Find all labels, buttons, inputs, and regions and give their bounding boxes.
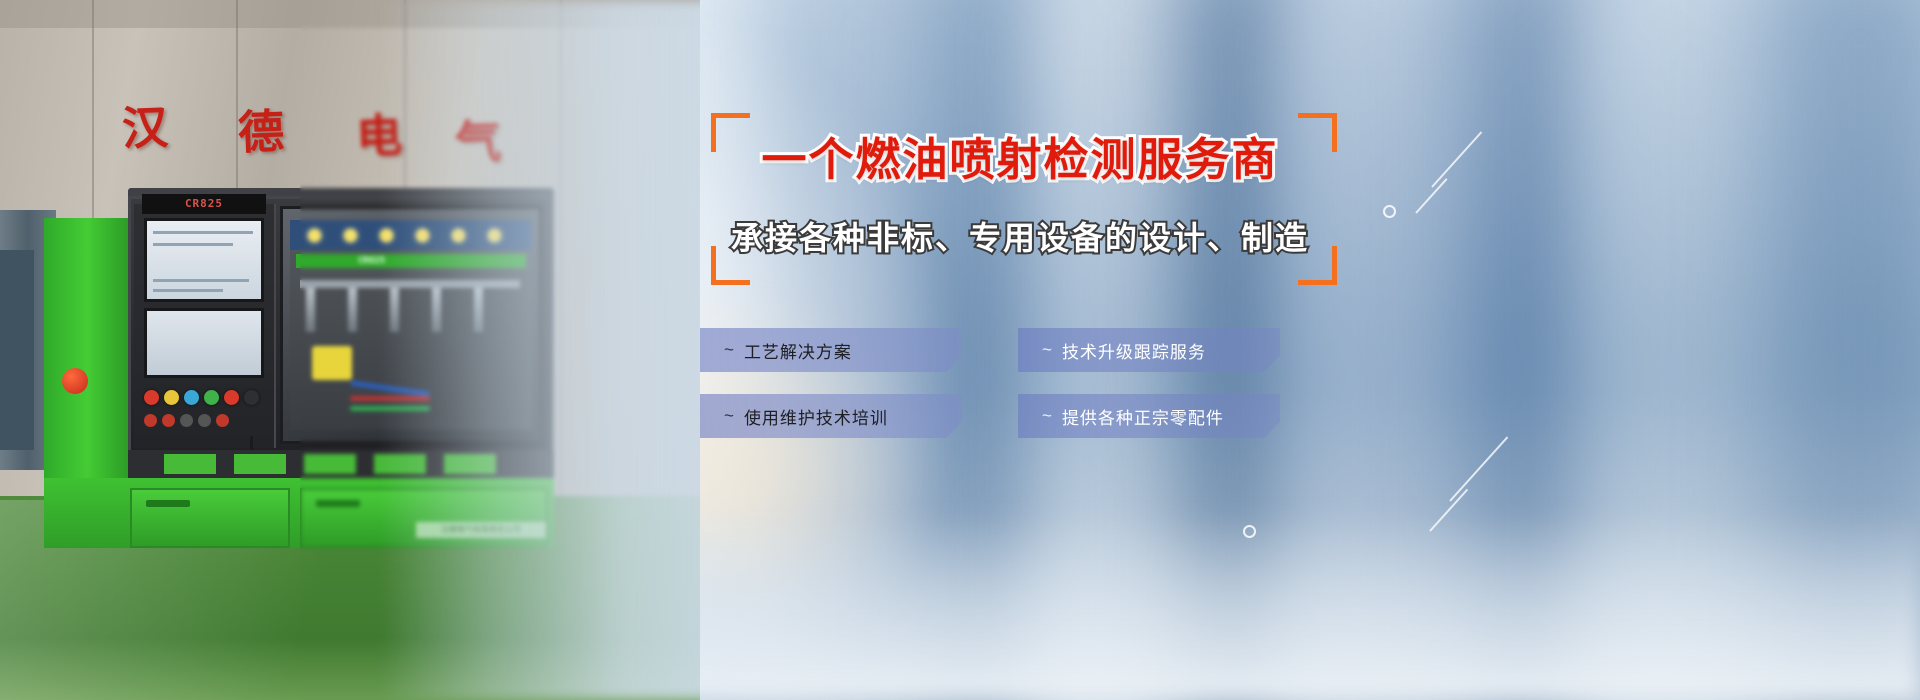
hero-banner: 汉 德 电 气 CR825: [0, 0, 1920, 700]
machine-model-label: CR825: [142, 194, 266, 214]
tag-tilde-2: ~: [724, 406, 735, 426]
left-equipment-dark: [0, 250, 34, 450]
photo-fade-mask: [380, 0, 700, 700]
page-title: 一个燃油喷射检测服务商: [700, 137, 1340, 182]
decor-circle-2: [1243, 525, 1256, 538]
machine-left-cabinet: [44, 218, 130, 518]
feature-tag-list: ~ 工艺解决方案 ~ 技术升级跟踪服务 ~ 使用维护技术培训 ~ 提供各种正宗零…: [700, 328, 1300, 438]
machine-display-upper: [144, 218, 264, 302]
feature-tag-3[interactable]: ~ 提供各种正宗零配件: [1018, 394, 1280, 438]
machine-display-lower: [144, 308, 264, 378]
tag-label-2: 使用维护技术培训: [744, 404, 888, 429]
tag-tilde-3: ~: [1042, 406, 1053, 426]
tag-tilde-0: ~: [724, 340, 735, 360]
tag-label-3: 提供各种正宗零配件: [1062, 404, 1224, 429]
machine-button-row-2: [144, 410, 268, 430]
feature-tag-0[interactable]: ~ 工艺解决方案: [700, 328, 962, 372]
feature-tag-1[interactable]: ~ 技术升级跟踪服务: [1018, 328, 1280, 372]
wall-char-1: 汉: [121, 91, 169, 159]
product-photo: 汉 德 电 气 CR825: [0, 0, 700, 700]
feature-tag-2[interactable]: ~ 使用维护技术培训: [700, 394, 962, 438]
wall-char-2: 德: [237, 95, 285, 163]
page-subtitle: 承接各种非标、专用设备的设计、制造: [700, 222, 1340, 254]
tag-label-1: 技术升级跟踪服务: [1062, 338, 1206, 363]
tag-tilde-1: ~: [1042, 340, 1053, 360]
machine-button-row-1: [144, 386, 268, 408]
machine-door-left: [130, 488, 290, 548]
decor-circle-1: [1383, 205, 1396, 218]
tag-label-0: 工艺解决方案: [744, 338, 852, 363]
